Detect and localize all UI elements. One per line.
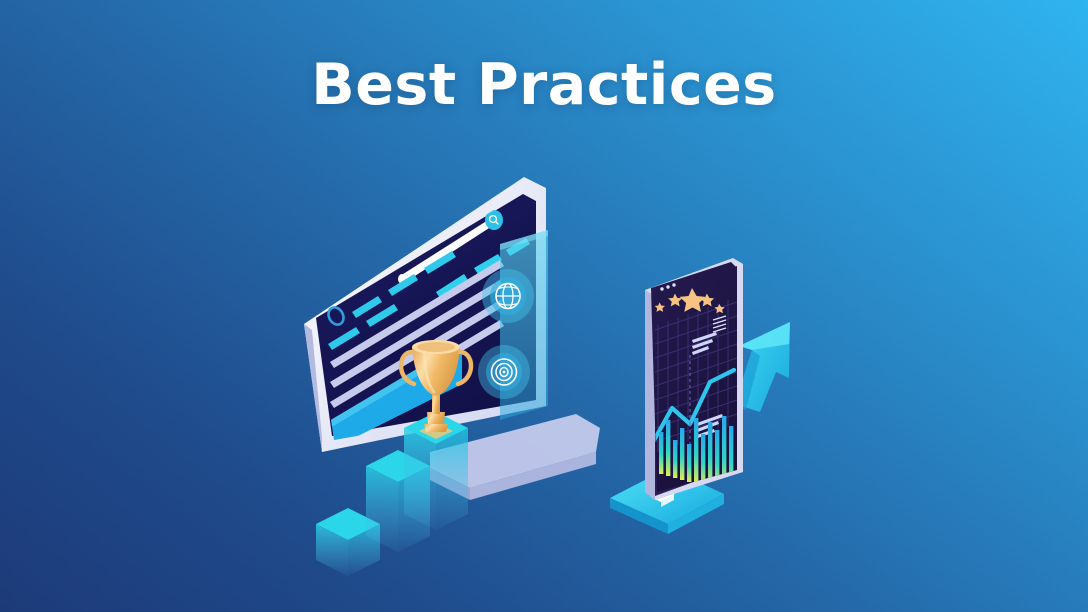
target-icon[interactable] xyxy=(478,345,530,399)
growth-arrow-icon xyxy=(735,322,790,412)
globe-icon[interactable] xyxy=(482,269,534,323)
smartphone xyxy=(610,258,790,534)
slide-canvas: Best Practices xyxy=(0,0,1088,612)
isometric-illustration xyxy=(0,0,1088,612)
